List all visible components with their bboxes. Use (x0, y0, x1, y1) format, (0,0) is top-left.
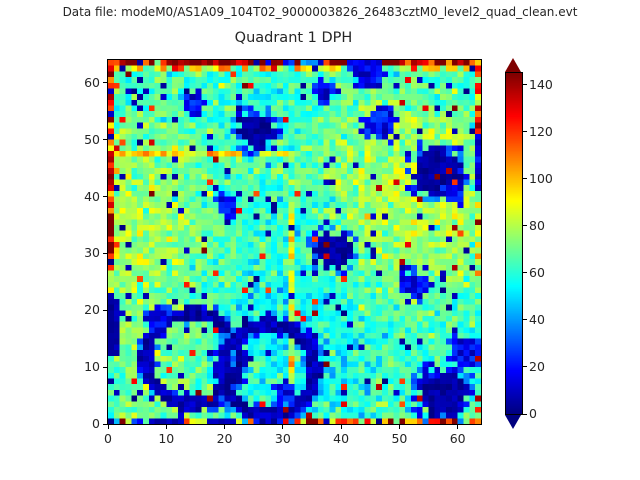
colorbar-tick-label: 40 (529, 312, 545, 327)
y-tick-mark (103, 424, 107, 425)
y-tick-mark (103, 253, 107, 254)
y-tick-mark (103, 367, 107, 368)
y-tick-label: 20 (65, 302, 100, 317)
x-tick-label: 30 (269, 431, 297, 446)
colorbar-extend-max-arrow (505, 58, 521, 72)
colorbar-tick-mark (523, 319, 527, 320)
colorbar (505, 72, 523, 415)
x-tick-mark (166, 425, 167, 429)
x-tick-mark (457, 425, 458, 429)
colorbar-tick-mark (523, 414, 527, 415)
x-tick-mark (399, 425, 400, 429)
colorbar-tick-mark (523, 366, 527, 367)
x-tick-label: 0 (94, 431, 122, 446)
x-tick-label: 10 (152, 431, 180, 446)
colorbar-tick-label: 0 (529, 406, 537, 421)
colorbar-tick-mark (523, 84, 527, 85)
page-title: Quadrant 1 DPH (107, 30, 480, 46)
heatmap-axes (107, 59, 482, 425)
y-tick-label: 30 (65, 245, 100, 260)
colorbar-tick-mark (523, 272, 527, 273)
y-tick-label: 60 (65, 75, 100, 90)
x-tick-label: 40 (327, 431, 355, 446)
colorbar-tick-mark (523, 178, 527, 179)
x-tick-mark (224, 425, 225, 429)
y-tick-label: 10 (65, 359, 100, 374)
colorbar-tick-label: 80 (529, 218, 545, 233)
colorbar-gradient (506, 73, 522, 414)
y-tick-mark (103, 196, 107, 197)
x-tick-label: 50 (385, 431, 413, 446)
y-tick-label: 50 (65, 132, 100, 147)
x-tick-mark (282, 425, 283, 429)
y-tick-mark (103, 82, 107, 83)
x-tick-mark (108, 425, 109, 429)
colorbar-tick-label: 100 (529, 171, 553, 186)
y-tick-label: 0 (65, 416, 100, 431)
x-tick-mark (341, 425, 342, 429)
x-tick-label: 20 (211, 431, 239, 446)
colorbar-tick-mark (523, 131, 527, 132)
y-tick-mark (103, 139, 107, 140)
heatmap-image (108, 60, 481, 424)
colorbar-tick-label: 20 (529, 359, 545, 374)
colorbar-extend-min-arrow (505, 415, 521, 429)
colorbar-tick-label: 140 (529, 77, 553, 92)
figure-canvas: Data file: modeM0/AS1A09_104T02_90000038… (0, 0, 640, 480)
y-tick-mark (103, 310, 107, 311)
colorbar-tick-label: 120 (529, 124, 553, 139)
y-tick-label: 40 (65, 189, 100, 204)
data-file-suptitle: Data file: modeM0/AS1A09_104T02_90000038… (0, 5, 640, 19)
colorbar-tick-label: 60 (529, 265, 545, 280)
colorbar-tick-mark (523, 225, 527, 226)
x-tick-label: 60 (444, 431, 472, 446)
